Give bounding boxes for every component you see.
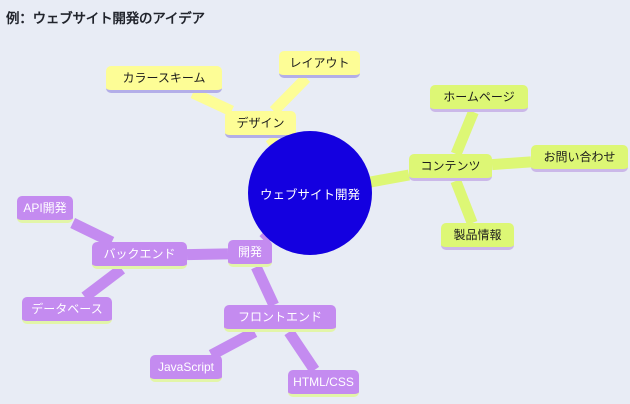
- node-homepage[interactable]: ホームページ: [430, 85, 528, 112]
- node-product[interactable]: 製品情報: [441, 223, 514, 250]
- node-label-product: 製品情報: [452, 229, 502, 241]
- node-backend[interactable]: バックエンド: [92, 242, 187, 269]
- edge-frontend-to-javascript: [211, 332, 254, 355]
- node-development[interactable]: 開発: [228, 240, 272, 267]
- edge-development-to-frontend: [256, 267, 274, 305]
- node-layout[interactable]: レイアウト: [279, 51, 360, 78]
- node-database[interactable]: データベース: [22, 297, 112, 324]
- edge-backend-to-database: [85, 269, 122, 297]
- edge-contents-to-contact: [492, 162, 531, 165]
- node-label-design: デザイン: [235, 117, 285, 129]
- node-label-contents: コンテンツ: [419, 160, 481, 172]
- edge-design-to-layout: [274, 78, 306, 111]
- node-label-homepage: ホームページ: [442, 91, 515, 103]
- node-colorscheme[interactable]: カラースキーム: [106, 66, 222, 93]
- node-frontend[interactable]: フロントエンド: [224, 305, 336, 332]
- edge-contents-to-homepage: [456, 112, 473, 154]
- edge-development-to-backend: [187, 254, 228, 255]
- node-design[interactable]: デザイン: [225, 111, 296, 138]
- node-label-contact: お問い合わせ: [542, 151, 616, 163]
- edge-design-to-colorscheme: [193, 93, 232, 111]
- mindmap-canvas: 例：ウェブサイト開発のアイデア デザインカラースキームレイアウトコンテンツホーム…: [0, 0, 630, 404]
- edge-backend-to-api: [73, 223, 112, 242]
- node-label-layout: レイアウト: [288, 57, 350, 69]
- edge-center-to-contents: [367, 175, 409, 183]
- node-label-javascript: JavaScript: [157, 361, 215, 373]
- edge-contents-to-product: [456, 181, 472, 223]
- node-label-colorscheme: カラースキーム: [121, 72, 206, 84]
- node-label-frontend: フロントエンド: [237, 311, 323, 323]
- edge-frontend-to-htmlcss: [289, 332, 315, 370]
- node-api[interactable]: API開発: [17, 196, 73, 223]
- node-label-api: API開発: [22, 202, 67, 214]
- node-label-backend: バックエンド: [102, 248, 176, 260]
- center-node-label: ウェブサイト開発: [260, 184, 360, 203]
- node-javascript[interactable]: JavaScript: [150, 355, 222, 382]
- node-label-development: 開発: [237, 246, 263, 258]
- node-htmlcss[interactable]: HTML/CSS: [288, 370, 359, 397]
- center-node-website-development[interactable]: ウェブサイト開発: [248, 131, 372, 255]
- node-contents[interactable]: コンテンツ: [409, 154, 492, 181]
- node-contact[interactable]: お問い合わせ: [531, 145, 628, 172]
- node-label-database: データベース: [30, 303, 103, 315]
- node-label-htmlcss: HTML/CSS: [292, 376, 355, 388]
